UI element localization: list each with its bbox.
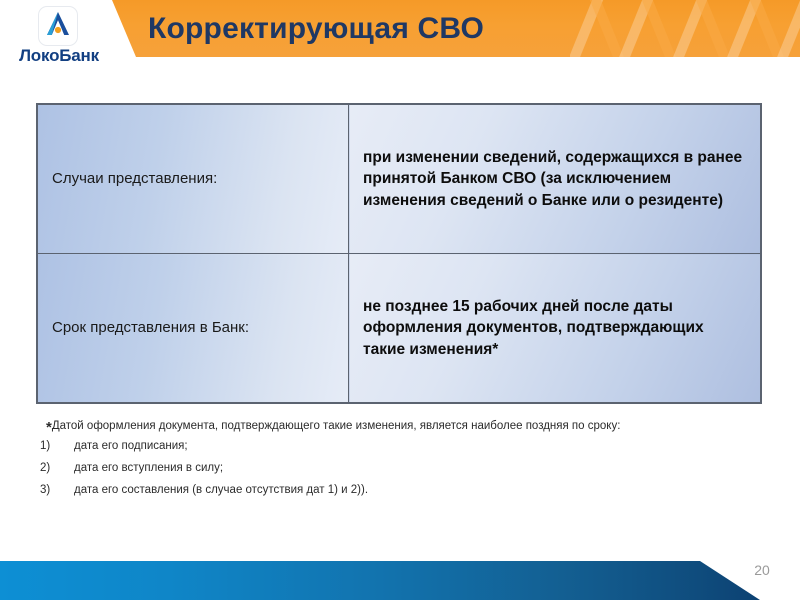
- footnote-item-number: 2): [40, 462, 74, 476]
- footnote-block: *Датой оформления документа, подтверждаю…: [40, 420, 770, 505]
- slide-header: Корректирующая СВО ЛокоБанк: [0, 0, 800, 60]
- slide-canvas: Корректирующая СВО ЛокоБанк Случаи предс…: [0, 0, 800, 600]
- list-item: 1) дата его подписания;: [40, 440, 770, 454]
- footnote-item-text: дата его подписания;: [74, 440, 188, 454]
- table-cell-body-deadline: не позднее 15 рабочих дней после даты оф…: [349, 254, 762, 404]
- table-cell-label-deadline: Срок представления в Банк:: [37, 254, 349, 404]
- logo[interactable]: ЛокоБанк: [8, 6, 110, 66]
- logo-tile: [38, 6, 78, 46]
- footer-bar-decoration: [0, 561, 760, 600]
- footnote-list: 1) дата его подписания; 2) дата его всту…: [40, 440, 770, 497]
- page-number: 20: [742, 562, 782, 578]
- table-row: Срок представления в Банк: не позднее 15…: [37, 254, 761, 404]
- footnote-item-number: 3): [40, 484, 74, 498]
- lokobank-mark-icon: [45, 11, 71, 37]
- list-item: 3) дата его составления (в случае отсутс…: [40, 484, 770, 498]
- page-title: Корректирующая СВО: [148, 6, 748, 52]
- footnote-item-text: дата его составления (в случае отсутстви…: [74, 484, 368, 498]
- list-item: 2) дата его вступления в силу;: [40, 462, 770, 476]
- footnote-lead: *Датой оформления документа, подтверждаю…: [46, 420, 770, 435]
- logo-wordmark: ЛокоБанк: [8, 46, 110, 66]
- info-table: Случаи представления: при изменении свед…: [36, 103, 762, 404]
- footnote-item-number: 1): [40, 440, 74, 454]
- table-cell-body-cases: при изменении сведений, содержащихся в р…: [349, 104, 762, 254]
- table-row: Случаи представления: при изменении свед…: [37, 104, 761, 254]
- table-cell-label-cases: Случаи представления:: [37, 104, 349, 254]
- footnote-lead-text: Датой оформления документа, подтверждающ…: [52, 420, 621, 432]
- footnote-item-text: дата его вступления в силу;: [74, 462, 223, 476]
